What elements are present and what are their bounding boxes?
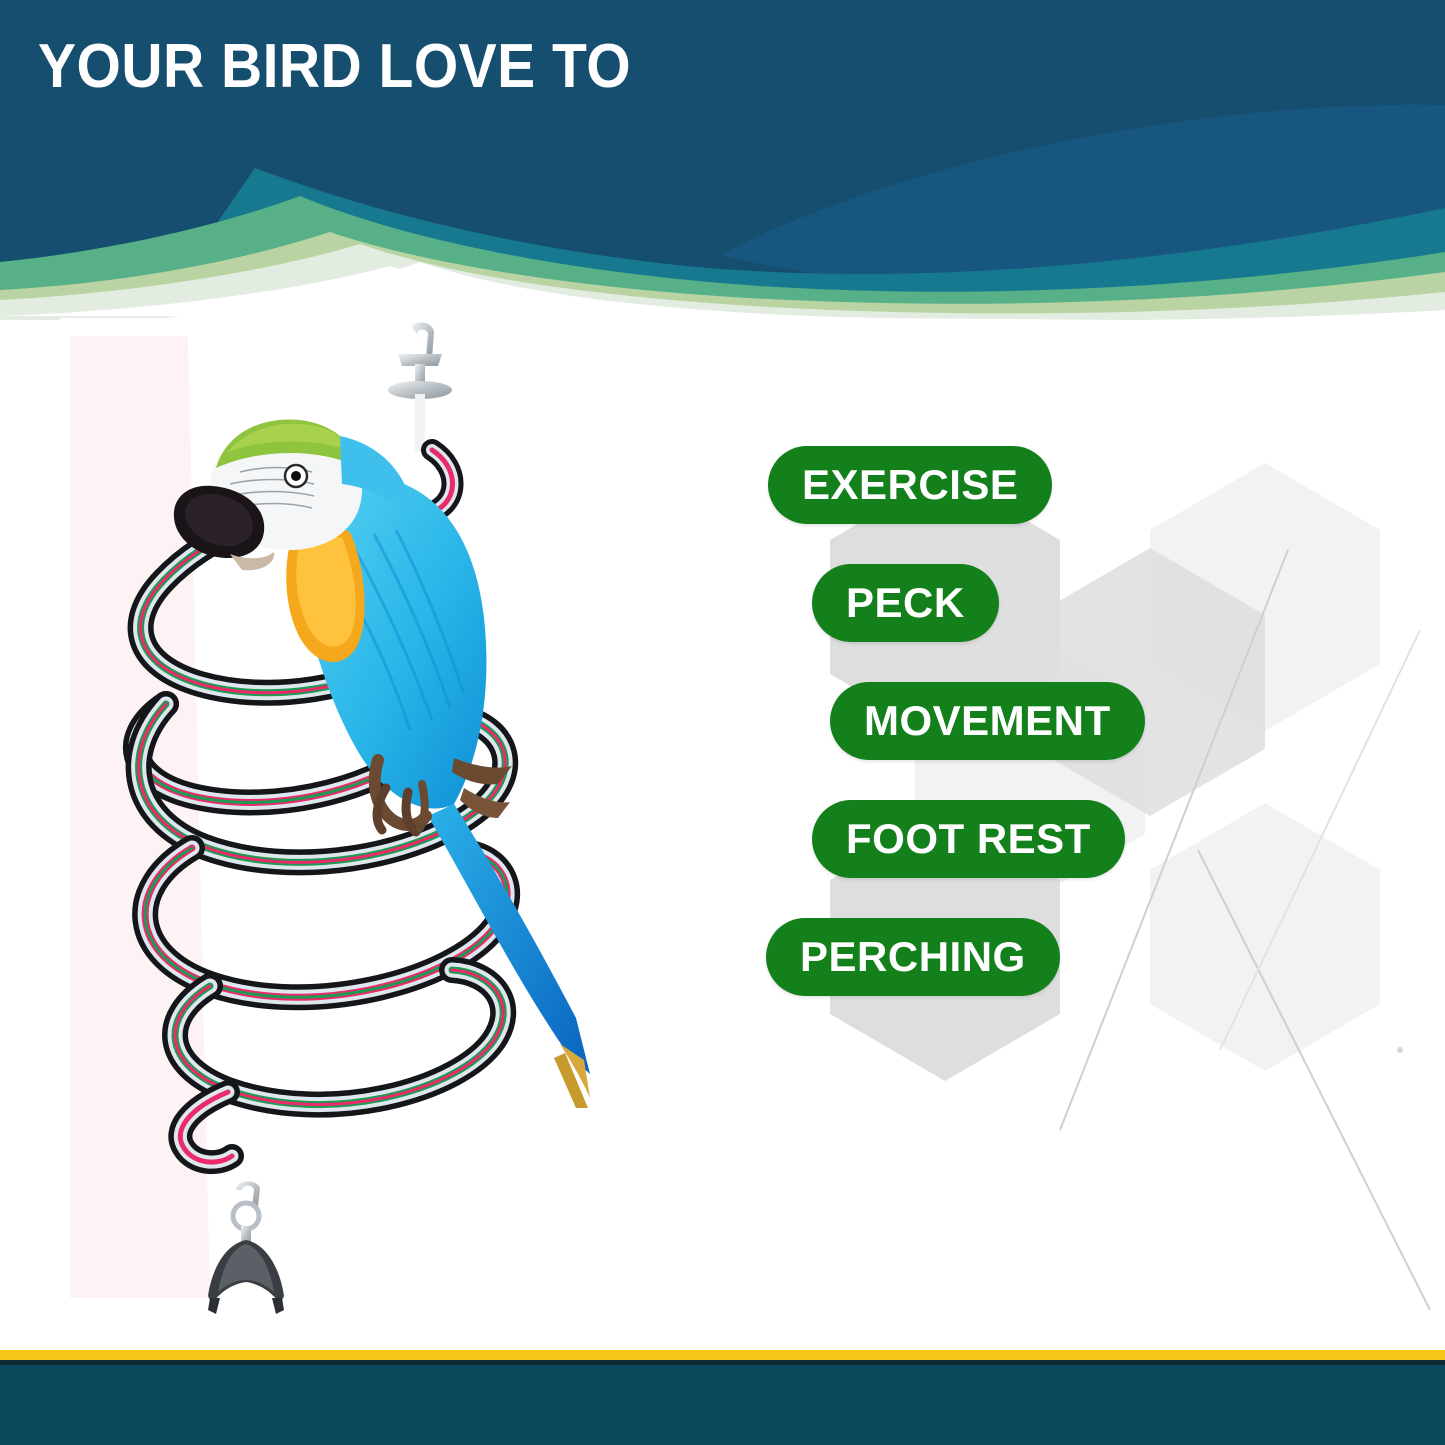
feature-pill-label: FOOT REST [846,815,1091,863]
feature-pill-label: MOVEMENT [864,697,1111,745]
feature-pill-perching[interactable]: PERCHING [766,918,1060,996]
feature-pill-label: EXERCISE [802,461,1018,509]
footer-accent-line [0,1350,1445,1360]
feature-pill-exercise[interactable]: EXERCISE [768,446,1052,524]
product-photo [60,318,590,1318]
feature-pill-label: PECK [846,579,965,627]
feature-pill-peck[interactable]: PECK [812,564,999,642]
header-banner: YOUR BIRD LOVE TO [0,0,1445,320]
feature-list: EXERCISE PECK MOVEMENT FOOT REST PERCHIN… [740,430,1240,1310]
footer-bar [0,1365,1445,1445]
feature-pill-foot-rest[interactable]: FOOT REST [812,800,1125,878]
macaw-spiral-perch-illustration [60,318,590,1318]
feature-pill-label: PERCHING [800,933,1026,981]
diagonal-line-dot [1397,1047,1403,1053]
page-title: YOUR BIRD LOVE TO [38,34,631,99]
infographic-page: YOUR BIRD LOVE TO [0,0,1445,1445]
feature-pill-movement[interactable]: MOVEMENT [830,682,1145,760]
